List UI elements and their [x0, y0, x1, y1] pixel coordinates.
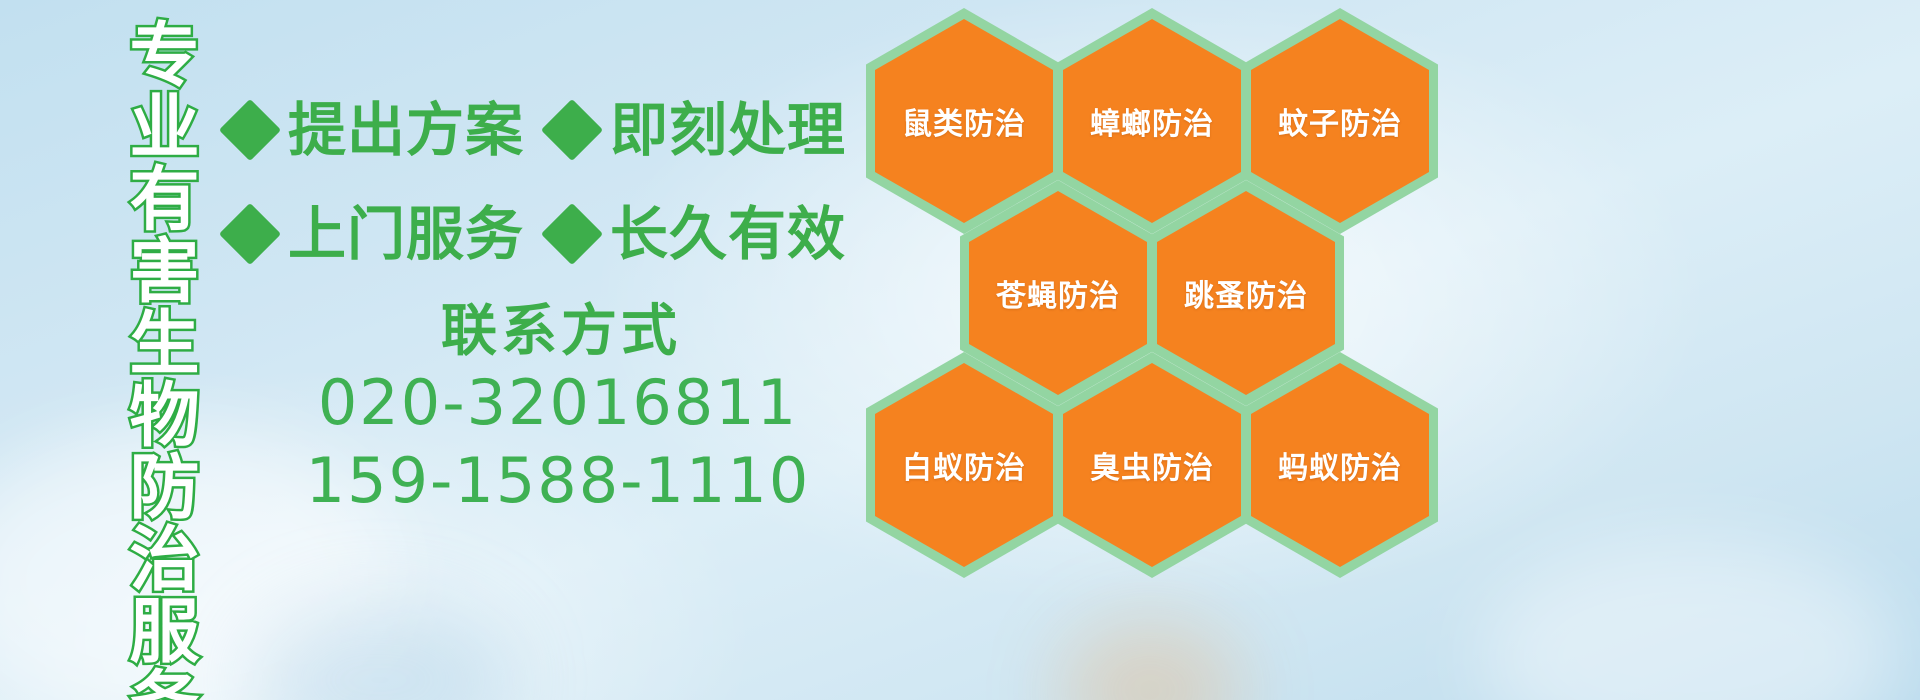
contact-block: 联系方式 020-32016811 159-1588-1110: [228, 300, 878, 519]
background-blur-shape: [1480, 540, 1900, 700]
diamond-bullet-icon: [219, 99, 281, 161]
feature-item-1: 即刻处理: [550, 101, 846, 159]
diamond-bullet-icon: [219, 203, 281, 265]
feature-item-3: 长久有效: [550, 205, 846, 263]
service-label: 蚂蚁防治: [1278, 443, 1402, 487]
feature-list: 提出方案 即刻处理 上门服务 长久有效: [228, 78, 868, 286]
pest-control-banner: 专业有害生物防治服务 提出方案 即刻处理 上门服务 长久有效: [0, 0, 1920, 700]
service-hexagon-bedbug[interactable]: 臭虫防治: [1054, 352, 1250, 578]
service-hexagon-ant[interactable]: 蚂蚁防治: [1242, 352, 1438, 578]
feature-label: 上门服务: [288, 205, 524, 263]
service-label: 鼠类防治: [902, 99, 1026, 143]
service-hexagon-grid: 鼠类防治 蟑螂防治 蚊子防治 苍蝇防治 跳蚤防治 白蚁防治: [862, 0, 1462, 700]
feature-row-1: 提出方案 即刻处理: [228, 78, 868, 182]
diamond-bullet-icon: [541, 203, 603, 265]
service-label: 蟑螂防治: [1090, 99, 1214, 143]
feature-item-0: 提出方案: [228, 101, 524, 159]
service-label: 蚊子防治: [1278, 99, 1402, 143]
feature-item-2: 上门服务: [228, 205, 524, 263]
phone-mobile[interactable]: 159-1588-1110: [238, 442, 878, 520]
vertical-headline: 专业有害生物防治服务: [108, 18, 194, 700]
feature-label: 即刻处理: [610, 101, 846, 159]
service-label: 苍蝇防治: [996, 271, 1120, 315]
service-hexagon-termite[interactable]: 白蚁防治: [866, 352, 1062, 578]
feature-label: 长久有效: [610, 205, 846, 263]
service-label: 跳蚤防治: [1184, 271, 1308, 315]
contact-title: 联系方式: [244, 300, 878, 364]
feature-row-2: 上门服务 长久有效: [228, 182, 868, 286]
background-blur-shape: [250, 600, 510, 700]
service-label: 白蚁防治: [902, 443, 1026, 487]
diamond-bullet-icon: [541, 99, 603, 161]
phone-landline[interactable]: 020-32016811: [238, 364, 878, 442]
feature-label: 提出方案: [288, 101, 524, 159]
service-label: 臭虫防治: [1090, 443, 1214, 487]
